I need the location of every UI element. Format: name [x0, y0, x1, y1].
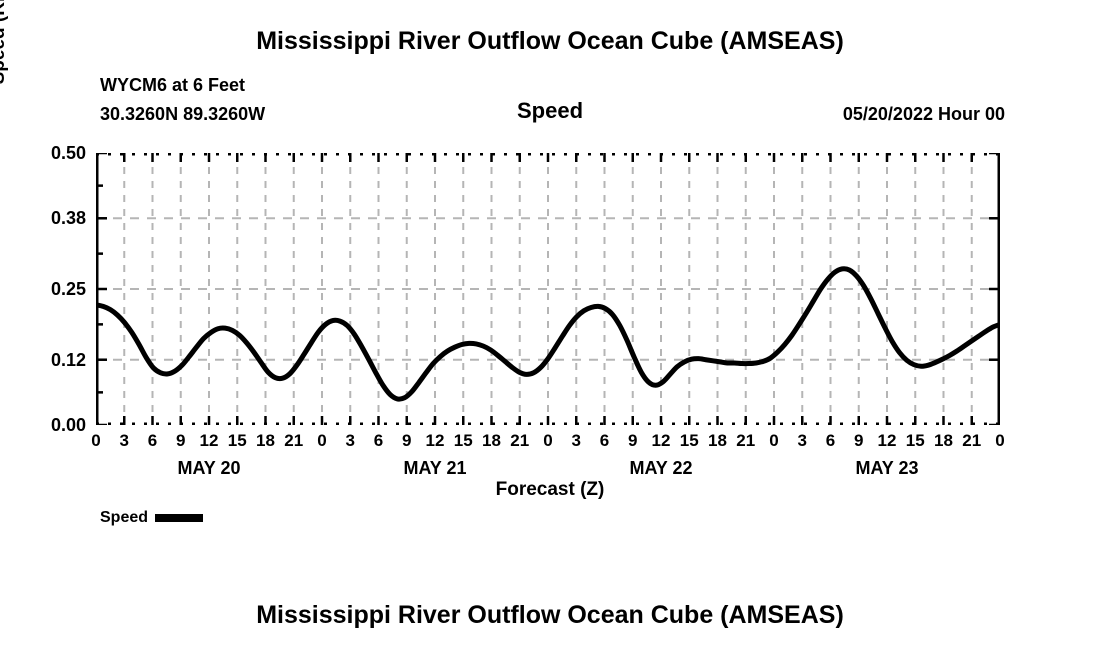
plot-area	[96, 153, 1000, 425]
x-tick-label: 18	[251, 432, 281, 449]
x-tick-label: 15	[674, 432, 704, 449]
y-tick-label: 0.38	[14, 209, 86, 227]
x-tick-label: 6	[138, 432, 168, 449]
x-tick-label: 0	[307, 432, 337, 449]
x-tick-label: 0	[533, 432, 563, 449]
x-tick-label: 12	[194, 432, 224, 449]
chart-page: Mississippi River Outflow Ocean Cube (AM…	[0, 0, 1100, 650]
x-tick-label: 18	[703, 432, 733, 449]
x-tick-label: 3	[561, 432, 591, 449]
x-tick-label: 9	[618, 432, 648, 449]
station-label: WYCM6 at 6 Feet	[100, 75, 245, 96]
footer-title: Mississippi River Outflow Ocean Cube (AM…	[0, 601, 1100, 630]
x-day-label: MAY 21	[355, 459, 515, 477]
y-tick-label: 0.25	[14, 280, 86, 298]
x-day-label: MAY 20	[129, 459, 289, 477]
page-title: Mississippi River Outflow Ocean Cube (AM…	[0, 27, 1100, 56]
x-tick-label: 21	[957, 432, 987, 449]
x-tick-label: 3	[787, 432, 817, 449]
y-tick-label: 0.00	[14, 416, 86, 434]
x-tick-label: 3	[109, 432, 139, 449]
x-tick-label: 3	[335, 432, 365, 449]
x-tick-label: 6	[590, 432, 620, 449]
x-tick-label: 12	[646, 432, 676, 449]
x-tick-label: 12	[872, 432, 902, 449]
chart-legend: Speed	[100, 509, 203, 527]
x-tick-label: 6	[816, 432, 846, 449]
x-tick-label: 15	[900, 432, 930, 449]
x-day-label: MAY 22	[581, 459, 741, 477]
x-tick-label: 21	[279, 432, 309, 449]
x-tick-label: 18	[477, 432, 507, 449]
x-day-label: MAY 23	[807, 459, 967, 477]
x-tick-label: 9	[392, 432, 422, 449]
x-tick-label: 0	[81, 432, 111, 449]
y-tick-label: 0.50	[14, 144, 86, 162]
y-axis-label: Speed (Knots)	[0, 0, 10, 150]
legend-color-swatch	[155, 514, 203, 522]
x-tick-label: 0	[985, 432, 1015, 449]
x-tick-label: 21	[505, 432, 535, 449]
x-axis-label: Forecast (Z)	[0, 479, 1100, 501]
legend-label: Speed	[100, 509, 148, 527]
speed-line-chart	[96, 153, 1000, 425]
run-time-label: 05/20/2022 Hour 00	[843, 104, 1005, 125]
x-tick-label: 9	[844, 432, 874, 449]
x-tick-label: 15	[222, 432, 252, 449]
x-tick-label: 18	[929, 432, 959, 449]
x-tick-label: 12	[420, 432, 450, 449]
y-axis-label-text: Speed (Knots)	[0, 0, 10, 150]
x-tick-label: 9	[166, 432, 196, 449]
y-tick-label: 0.12	[14, 351, 86, 369]
x-tick-label: 0	[759, 432, 789, 449]
x-tick-label: 15	[448, 432, 478, 449]
x-tick-label: 21	[731, 432, 761, 449]
x-tick-label: 6	[364, 432, 394, 449]
